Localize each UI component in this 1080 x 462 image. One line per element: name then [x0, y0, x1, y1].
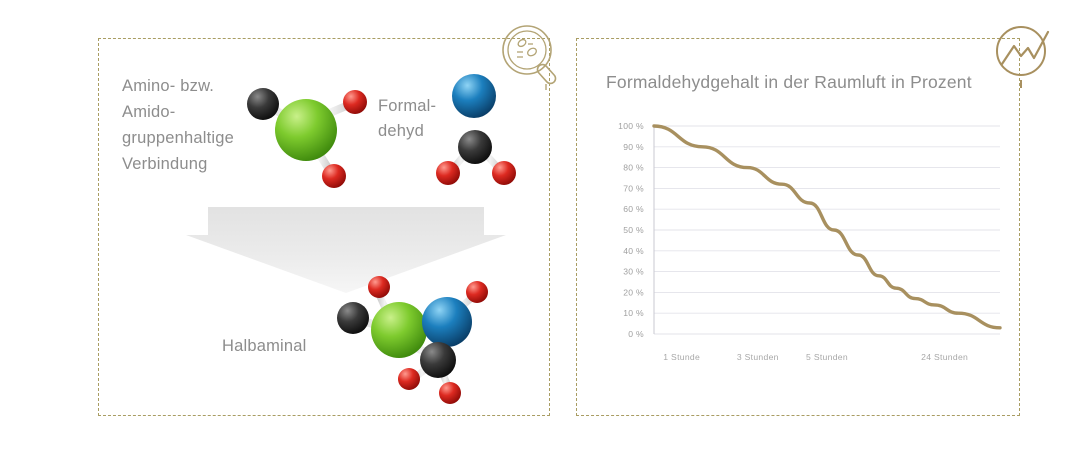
y-axis-tick-label: 30 % — [623, 267, 644, 277]
trend-chart-icon — [990, 20, 1062, 92]
chart-y-axis-labels: 100 %90 %80 %70 %60 %50 %40 %30 %20 %10 … — [618, 121, 644, 339]
line-chart: 100 %90 %80 %70 %60 %50 %40 %30 %20 %10 … — [598, 118, 1006, 378]
chart-svg: 100 %90 %80 %70 %60 %50 %40 %30 %20 %10 … — [598, 118, 1006, 378]
x-axis-tick-label: 1 Stunde — [663, 352, 700, 362]
molecule-formaldehyd — [432, 68, 536, 192]
y-axis-tick-label: 0 % — [628, 329, 644, 339]
chart-title: Formaldehydgehalt in der Raumluft in Pro… — [606, 72, 972, 93]
y-axis-tick-label: 60 % — [623, 204, 644, 214]
y-axis-tick-label: 40 % — [623, 246, 644, 256]
y-axis-tick-label: 50 % — [623, 225, 644, 235]
y-axis-tick-label: 100 % — [618, 121, 644, 131]
molecule-amido-compound — [238, 78, 374, 194]
chart-x-axis-labels: 1 Stunde3 Stunden5 Stunden24 Stunden — [663, 352, 968, 362]
x-axis-tick-label: 5 Stunden — [806, 352, 848, 362]
y-axis-tick-label: 90 % — [623, 142, 644, 152]
x-axis-tick-label: 3 Stunden — [737, 352, 779, 362]
molecule-halbaminal — [322, 272, 506, 408]
y-axis-tick-label: 20 % — [623, 287, 644, 297]
y-axis-tick-label: 10 % — [623, 308, 644, 318]
x-axis-tick-label: 24 Stunden — [921, 352, 968, 362]
y-axis-tick-label: 80 % — [623, 163, 644, 173]
chart-gridlines — [654, 126, 1000, 334]
slide-canvas: Amino- bzw. Amido- gruppenhaltige Verbin… — [0, 0, 1080, 462]
chart-series-line — [654, 126, 1000, 328]
y-axis-tick-label: 70 % — [623, 183, 644, 193]
